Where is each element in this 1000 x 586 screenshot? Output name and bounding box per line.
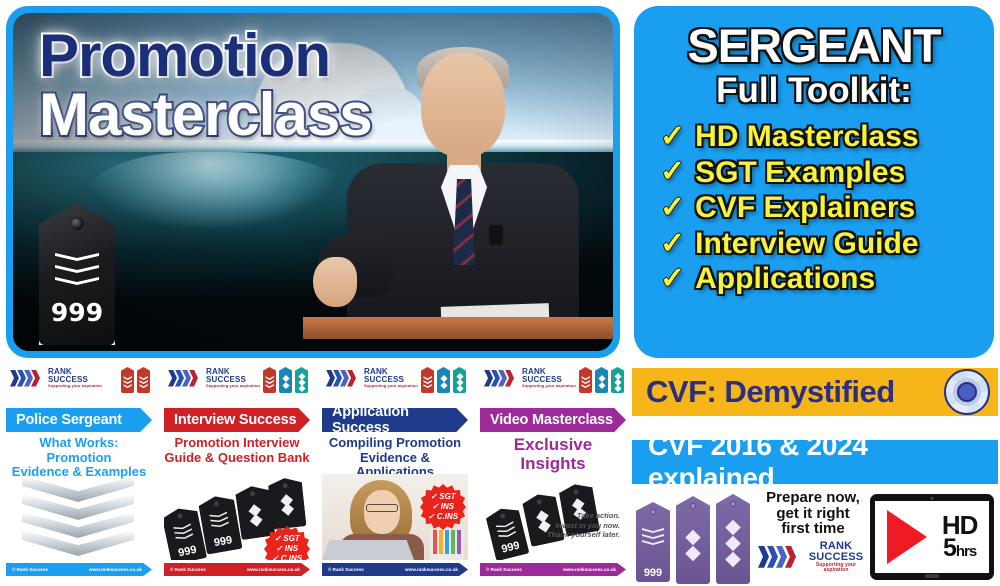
card-subtitle-line1: Exclusive (480, 436, 626, 455)
card-footer: © Rank Success www.ranksuccess.co.uk (6, 563, 152, 576)
cvf-subline: CVF 2016 & 2024 explained (648, 430, 998, 494)
hero-video-thumbnail[interactable]: Promotion Masterclass 999 (13, 13, 613, 351)
card-artwork-epaulettes: 999 Take action. Invest in you now. Than… (480, 484, 626, 560)
card-banner: Police Sergeant (6, 408, 152, 432)
rank-pip-inspector-icon (279, 367, 292, 393)
epaulette-number: 999 (204, 533, 242, 551)
card-subtitle-line1: Promotion Interview (164, 436, 310, 451)
card-video-masterclass[interactable]: RANK SUCCESS Supporting your aspiration … (476, 362, 630, 582)
badge-rank-sgt: ✓ SGT (274, 534, 299, 544)
rank-success-logo: RANK SUCCESS Supporting your aspiration (168, 368, 260, 388)
card-footer-url[interactable]: www.ranksuccess.co.uk (89, 567, 142, 572)
lapel-microphone-icon (489, 225, 503, 245)
chevron-logo-icon (484, 370, 518, 387)
card-artwork-woman-at-laptop: ✓ SGT ✓ INS ✓ C.INS (322, 474, 468, 560)
cvf-headline-bar: CVF: Demystified (632, 368, 998, 416)
tablet-screen: HD 5hrs (875, 501, 989, 573)
list-item: ✓ CVF Explainers (660, 191, 915, 225)
laptop-icon (322, 540, 414, 560)
list-item: ✓ Applications (660, 262, 875, 296)
toolkit-title: SERGEANT (687, 22, 940, 69)
rank-insignia-group (121, 367, 150, 393)
card-application-success[interactable]: RANK SUCCESS Supporting your aspiration … (318, 362, 472, 582)
epaulette-chief-inspector-icon (716, 494, 750, 584)
epaulette-inspector-icon (676, 496, 710, 584)
card-banner: Interview Success (164, 408, 310, 432)
promotion-masterclass-poster: Promotion Masterclass 999 SERGEANT Full … (0, 0, 1000, 586)
presenter-head (421, 53, 505, 157)
card-footer-url[interactable]: www.ranksuccess.co.uk (405, 567, 458, 572)
hero-panel: Promotion Masterclass 999 (6, 6, 620, 358)
lectern (303, 317, 613, 339)
rank-pip-sergeant-icon (263, 367, 276, 393)
epaulette-number: 999 (493, 538, 529, 558)
pencil-cup-icon (430, 530, 464, 560)
toolkit-item-label: CVF Explainers (695, 191, 915, 225)
sergeant-toolkit-panel: SERGEANT Full Toolkit: ✓ HD Masterclass … (634, 6, 994, 358)
check-icon: ✓ (660, 122, 685, 152)
epaulette-sergeant-icon: 999 (636, 502, 670, 582)
chevron-logo-icon (10, 370, 44, 387)
brand-tagline: Supporting your aspiration (522, 384, 576, 388)
rank-pip-chief-inspector-icon (453, 367, 466, 393)
rank-pip-chief-inspector-icon (295, 367, 308, 393)
brand-tagline: Supporting your aspiration (206, 384, 260, 388)
home-button-icon (925, 574, 939, 578)
check-icon: ✓ (660, 264, 685, 294)
card-banner-label: Police Sergeant (16, 412, 122, 428)
list-item: ✓ Interview Guide (660, 227, 919, 261)
epaulette-button (71, 217, 84, 230)
toolkit-feature-list: ✓ HD Masterclass ✓ SGT Examples ✓ CVF Ex… (646, 120, 982, 296)
toolkit-item-label: HD Masterclass (695, 120, 918, 154)
play-icon[interactable] (887, 510, 927, 564)
chevron-logo-icon (758, 546, 800, 568)
video-player-tablet[interactable]: HD 5hrs (870, 494, 994, 580)
rank-pip-sergeant-icon (421, 367, 434, 393)
brand-tagline: Supporting your aspiration (364, 384, 418, 388)
prepare-line3: first time (758, 521, 868, 537)
cvf-headline: CVF: Demystified (646, 374, 895, 410)
rank-success-logo: RANK SUCCESS Supporting your aspiration (326, 368, 418, 388)
card-quote: Take action. Invest in you now. Thank yo… (547, 511, 620, 540)
rank-pip-inspector-icon (595, 367, 608, 393)
epaulette-icon (267, 476, 306, 529)
card-police-sergeant[interactable]: RANK SUCCESS Supporting your aspiration … (2, 362, 156, 582)
card-artwork-sergeant-chevrons (6, 474, 152, 560)
cvf-panel: CVF: Demystified CVF 2016 & 2024 explain… (632, 362, 998, 584)
card-banner-label: Video Masterclass (490, 412, 613, 428)
rank-insignia-group (421, 367, 466, 393)
rank-pip-sergeant-icon (579, 367, 592, 393)
card-banner: Application Success (322, 408, 468, 432)
chevron-icon (55, 253, 99, 261)
card-banner: Video Masterclass (480, 408, 626, 432)
card-subtitle-line2: Insights (480, 455, 626, 474)
epaulette-number: 999 (169, 542, 207, 560)
badge-rank-ins: ✓ INS (276, 544, 298, 554)
prepare-line2: get it right (758, 506, 868, 522)
glasses-icon (366, 504, 398, 512)
card-footer-copyright: © Rank Success (486, 567, 522, 572)
card-artwork-epaulettes: 999 999 ✓ SGT ✓ INS ✓ C.INS (164, 474, 310, 560)
epaulette-number: 999 (636, 567, 670, 579)
card-footer-url[interactable]: www.ranksuccess.co.uk (247, 567, 300, 572)
card-banner-label: Interview Success (174, 412, 296, 428)
presenter-hand (313, 257, 357, 307)
card-subtitle-line2: Guide & Question Bank (164, 451, 310, 466)
chevron-stack-icon (22, 476, 134, 558)
list-item: ✓ SGT Examples (660, 156, 905, 190)
rank-pip-sergeant-icon (137, 367, 150, 393)
chevron-icon (55, 277, 99, 285)
card-footer-url[interactable]: www.ranksuccess.co.uk (563, 567, 616, 572)
prepare-line1: Prepare now, (758, 490, 868, 506)
hero-title-line2: Masterclass (39, 86, 372, 145)
cvf-wheel-icon (944, 369, 990, 415)
badge-rank-sgt: ✓ SGT (430, 492, 455, 502)
card-subtitle: Exclusive Insights (480, 436, 626, 473)
brand-tagline: Supporting your aspiration (804, 563, 868, 573)
chevron-logo-icon (326, 370, 360, 387)
epaulette-number: 999 (39, 298, 115, 327)
card-subtitle-line1: What Works: Promotion (6, 436, 152, 465)
toolkit-item-label: Applications (695, 262, 875, 296)
rank-success-logo: RANK SUCCESS Supporting your aspiration (10, 368, 102, 388)
rank-pip-inspector-icon (437, 367, 450, 393)
prepare-callout: Prepare now, get it right first time RAN… (758, 490, 868, 573)
chevron-logo-icon (168, 370, 202, 387)
chevron-icon (55, 265, 99, 273)
toolkit-item-label: Interview Guide (695, 227, 918, 261)
toolkit-item-label: SGT Examples (695, 156, 905, 190)
check-icon: ✓ (660, 193, 685, 223)
check-icon: ✓ (660, 229, 685, 259)
card-subtitle: Promotion Interview Guide & Question Ban… (164, 436, 310, 465)
card-footer-copyright: © Rank Success (170, 567, 206, 572)
badge-rank-ins: ✓ INS (432, 502, 454, 512)
epaulette-icon: 999 (484, 505, 529, 560)
rank-pip-chief-inspector-icon (611, 367, 624, 393)
rank-pip-sergeant-icon (121, 367, 134, 393)
video-duration-value: 5 (943, 534, 956, 562)
card-footer-copyright: © Rank Success (12, 567, 48, 572)
list-item: ✓ HD Masterclass (660, 120, 919, 154)
card-quote-line2: Invest in you now. (547, 521, 620, 531)
cvf-subline-bar: CVF 2016 & 2024 explained (632, 440, 998, 484)
hero-title-line1: Promotion (39, 22, 330, 89)
status-badge-ranks: ✓ SGT ✓ INS ✓ C.INS (420, 484, 466, 530)
cvf-bottom-row: 999 Prepare now, get it right first time (632, 490, 998, 584)
toolkit-subtitle: Full Toolkit: (716, 73, 912, 108)
rank-success-logo: RANK SUCCESS Supporting your aspiration (758, 541, 868, 573)
card-interview-success[interactable]: RANK SUCCESS Supporting your aspiration … (160, 362, 314, 582)
sergeant-epaulette-icon: 999 (39, 203, 115, 345)
rank-insignia-group (263, 367, 308, 393)
card-quote-line3: Thank yourself later. (547, 530, 620, 540)
badge-rank-cins: ✓ C.INS (272, 554, 302, 560)
rank-insignia-group (579, 367, 624, 393)
card-footer: © Rank Success www.ranksuccess.co.uk (322, 563, 468, 576)
card-quote-line1: Take action. (547, 511, 620, 521)
check-icon: ✓ (660, 157, 685, 187)
hero-title: Promotion Masterclass (39, 27, 372, 145)
card-footer-copyright: © Rank Success (328, 567, 364, 572)
woman-face (364, 490, 400, 534)
card-footer: © Rank Success www.ranksuccess.co.uk (480, 563, 626, 576)
rank-success-logo: RANK SUCCESS Supporting your aspiration (484, 368, 576, 388)
brand-tagline: Supporting your aspiration (48, 384, 102, 388)
product-card-row: RANK SUCCESS Supporting your aspiration … (2, 362, 630, 584)
badge-rank-cins: ✓ C.INS (428, 512, 458, 522)
card-footer: © Rank Success www.ranksuccess.co.uk (164, 563, 310, 576)
camera-icon (931, 497, 934, 500)
card-banner-label: Application Success (332, 404, 468, 436)
card-subtitle-line1: Compiling Promotion (322, 436, 468, 451)
video-duration-unit: hrs (956, 543, 976, 560)
purple-epaulette-group: 999 (636, 492, 754, 584)
